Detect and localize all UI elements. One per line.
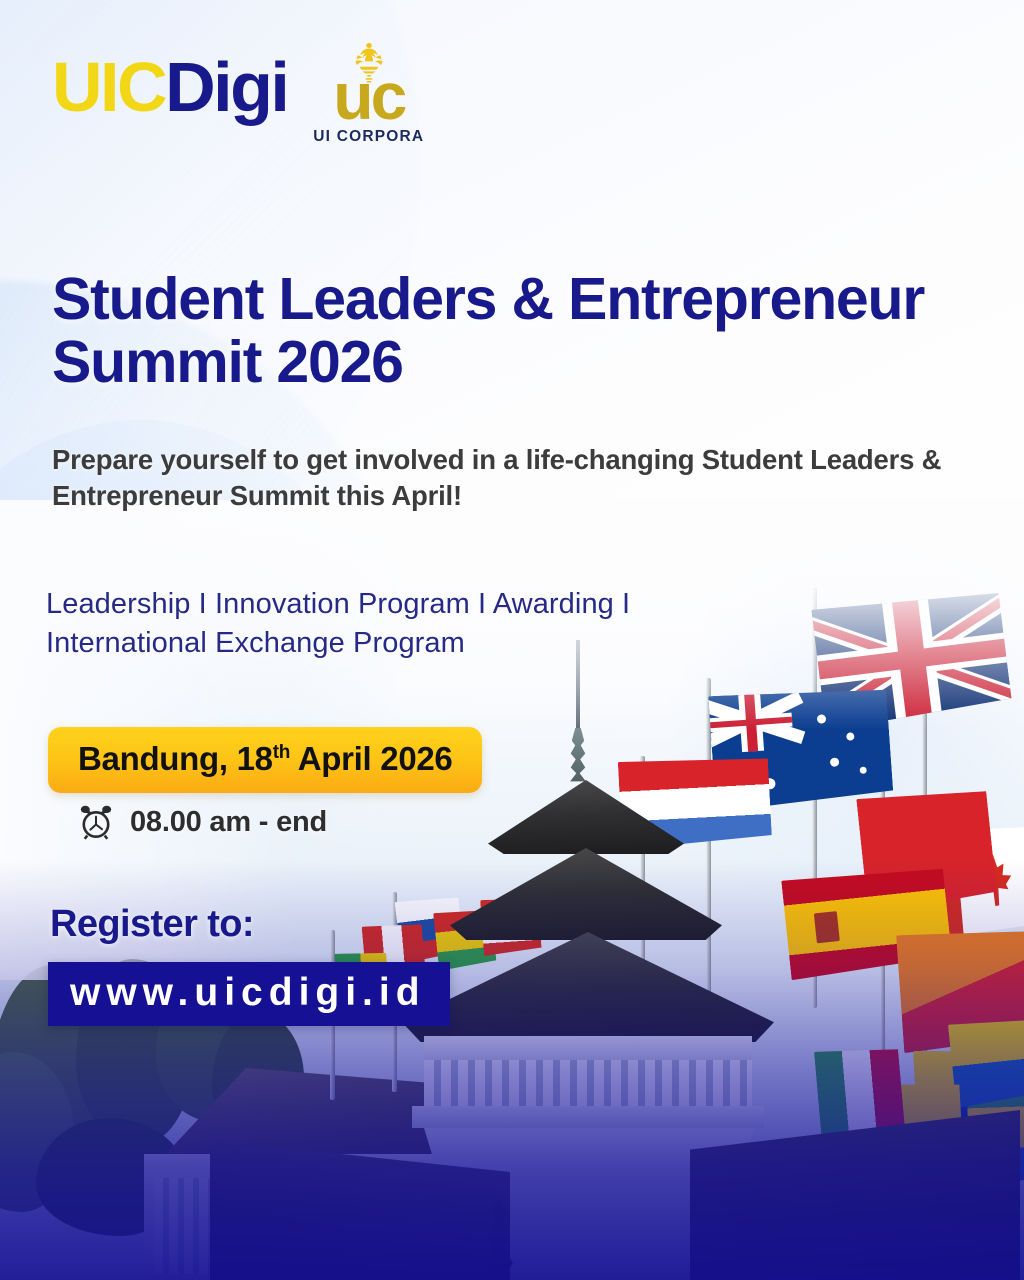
page-title: Student Leaders & Entrepreneur Summit 20… (52, 268, 982, 393)
title-line-1: Student Leaders & Entrepreneur (52, 266, 924, 332)
ui-corpora-label: UI CORPORA (313, 128, 424, 146)
poster-content: UICDigi uc UI CORPORA (0, 0, 1024, 1280)
date-badge-text: Bandung, 18th April 2026 (78, 740, 452, 778)
ui-makara-crown-icon (346, 42, 392, 86)
event-time-text: 08.00 am - end (130, 806, 327, 839)
uicdigi-wordmark: UICDigi (52, 52, 287, 122)
event-day: 18 (237, 740, 273, 777)
uicdigi-uic-text: UIC (52, 48, 165, 126)
uicdigi-digi-text: Digi (165, 48, 287, 126)
ui-corpora-logo: uc UI CORPORA (313, 52, 424, 146)
title-line-2: Summit 2026 (52, 329, 403, 395)
event-city: Bandung, (78, 740, 228, 777)
event-poster: UICDigi uc UI CORPORA (0, 0, 1024, 1280)
event-day-ordinal: th (273, 742, 290, 763)
register-url-text[interactable]: www.uicdigi.id (70, 971, 426, 1014)
date-location-badge: Bandung, 18th April 2026 (48, 727, 482, 793)
subtitle-text: Prepare yourself to get involved in a li… (52, 442, 992, 515)
logo-lockup: UICDigi uc UI CORPORA (52, 52, 424, 146)
register-url-box[interactable]: www.uicdigi.id (48, 962, 450, 1026)
event-time-row: 08.00 am - end (76, 802, 327, 842)
event-month-year: April 2026 (298, 740, 453, 777)
alarm-clock-icon (76, 802, 116, 842)
program-list: Leadership I Innovation Program I Awardi… (46, 585, 736, 662)
register-label: Register to: (50, 903, 254, 946)
